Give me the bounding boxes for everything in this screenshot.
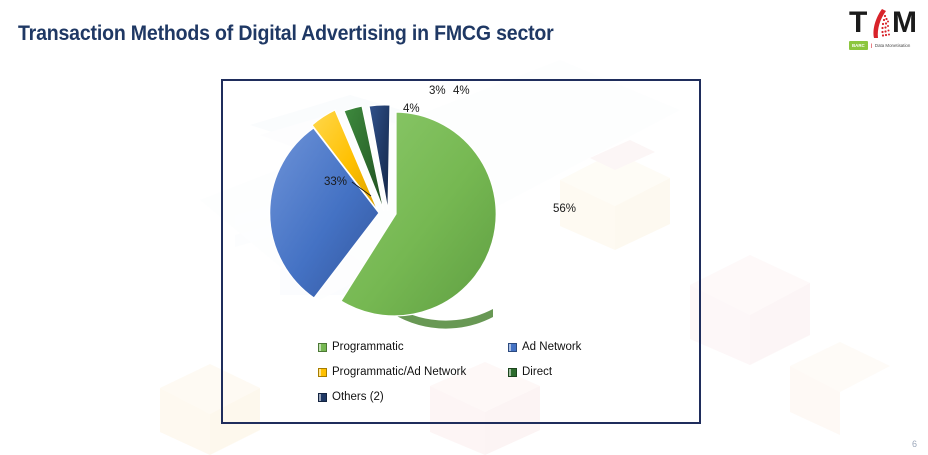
logo-letter-m: M: [892, 8, 917, 38]
title-part-3: Advertising in: [297, 22, 434, 45]
legend-swatch-icon: [508, 368, 517, 377]
tam-logo: T M BARC | Data Monetisation: [847, 8, 921, 54]
legend-row: Programmatic/Ad Network Direct: [318, 366, 688, 378]
legend-label: Programmatic/Ad Network: [332, 366, 466, 378]
legend-item-direct[interactable]: Direct: [508, 366, 552, 378]
logo-letter-t: T: [849, 8, 867, 38]
legend-label: Others (2): [332, 391, 384, 403]
logo-wordmark: T M: [847, 8, 921, 38]
pie-label-programmatic: 56%: [553, 203, 576, 215]
legend-swatch-icon: [318, 343, 327, 352]
legend-item-programmatic[interactable]: Programmatic: [318, 341, 508, 353]
chart-legend: Programmatic Ad Network Programmatic/Ad …: [318, 341, 688, 416]
page-number: 6: [912, 439, 917, 449]
pie-label-direct: 3%: [429, 85, 446, 97]
pie-label-ad-network: 33%: [324, 176, 347, 188]
legend-swatch-icon: [318, 368, 327, 377]
pie-label-others: 4%: [453, 85, 470, 97]
legend-row: Others (2): [318, 391, 688, 403]
logo-tagline: BARC | Data Monetisation: [849, 41, 910, 50]
logo-letter-a-icon: [870, 9, 892, 38]
chart-frame: 56% 33% 4% 3% 4% Programmatic Ad Network: [221, 79, 701, 424]
legend-swatch-icon: [508, 343, 517, 352]
legend-label: Programmatic: [332, 341, 404, 353]
legend-label: Direct: [522, 366, 552, 378]
legend-item-others[interactable]: Others (2): [318, 391, 508, 403]
page-title: Transaction Methods of Digital Advertisi…: [18, 22, 554, 46]
legend-row: Programmatic Ad Network: [318, 341, 688, 353]
legend-item-programmatic-ad-network[interactable]: Programmatic/Ad Network: [318, 366, 508, 378]
legend-swatch-icon: [318, 393, 327, 402]
title-part-fmcg: FMCG sector: [434, 22, 554, 45]
slide-root: Transaction Methods of Digital Advertisi…: [0, 0, 928, 455]
legend-item-ad-network[interactable]: Ad Network: [508, 341, 581, 353]
logo-tag-separator: |: [871, 42, 872, 49]
legend-label: Ad Network: [522, 341, 581, 353]
logo-tag-badge: BARC: [849, 41, 868, 50]
pie-label-programmatic-ad-network: 4%: [403, 103, 420, 115]
pie-chart: 56% 33% 4% 3% 4%: [223, 81, 703, 333]
logo-tag-text: Data Monetisation: [875, 42, 910, 49]
title-part-digital: Digital: [238, 22, 296, 45]
title-part-1: Transaction Methods of: [18, 22, 238, 45]
